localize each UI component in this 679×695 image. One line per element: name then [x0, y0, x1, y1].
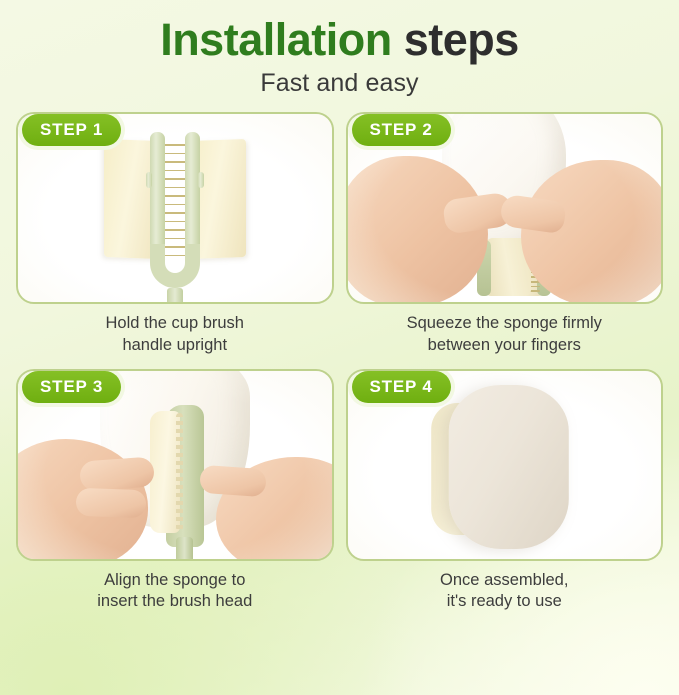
page-subtitle: Fast and easy: [0, 69, 679, 98]
assembled-cup-body: [449, 385, 569, 549]
finger-right: [199, 464, 267, 497]
finger-left-upper: [79, 456, 155, 491]
step-card-1: STEP 1 Hold the cup brush handle upright: [16, 112, 334, 357]
handle-u-bend: [150, 244, 200, 288]
step-card-3: STEP 3 Align the sponge to insert the br…: [16, 369, 334, 614]
step-4-image-card: STEP 4: [346, 369, 664, 561]
step-1-image-card: STEP 1: [16, 112, 334, 304]
finger-left-lower: [76, 487, 147, 517]
step-badge-4: STEP 4: [352, 371, 451, 403]
page-title: Installation steps: [0, 16, 679, 63]
step-caption-3: Align the sponge to insert the brush hea…: [16, 570, 334, 614]
header: Installation steps Fast and easy: [0, 0, 679, 98]
step-card-4: STEP 4 Once assembled, it's ready to use: [346, 369, 664, 614]
step-caption-2: Squeeze the sponge firmly between your f…: [346, 313, 664, 357]
handle-stem: [167, 288, 183, 302]
page-title-primary: Installation: [160, 14, 392, 65]
steps-grid: STEP 1 Hold the cup brush handle upright: [0, 112, 679, 613]
step-badge-1: STEP 1: [22, 114, 121, 146]
u-shaped-handle: [146, 132, 204, 302]
cream-sponge-strip: [150, 411, 180, 533]
installation-steps-infographic: Installation steps Fast and easy: [0, 0, 679, 695]
step-3-image-card: STEP 3: [16, 369, 334, 561]
step-badge-2: STEP 2: [352, 114, 451, 146]
handle-stem: [176, 537, 193, 559]
step-card-2: STEP 2 Squeeze the sponge firmly between…: [346, 112, 664, 357]
step-caption-4: Once assembled, it's ready to use: [346, 570, 664, 614]
step-badge-3: STEP 3: [22, 371, 121, 403]
step-2-image-card: STEP 2: [346, 112, 664, 304]
step-caption-1: Hold the cup brush handle upright: [16, 313, 334, 357]
page-title-secondary: steps: [404, 14, 519, 65]
